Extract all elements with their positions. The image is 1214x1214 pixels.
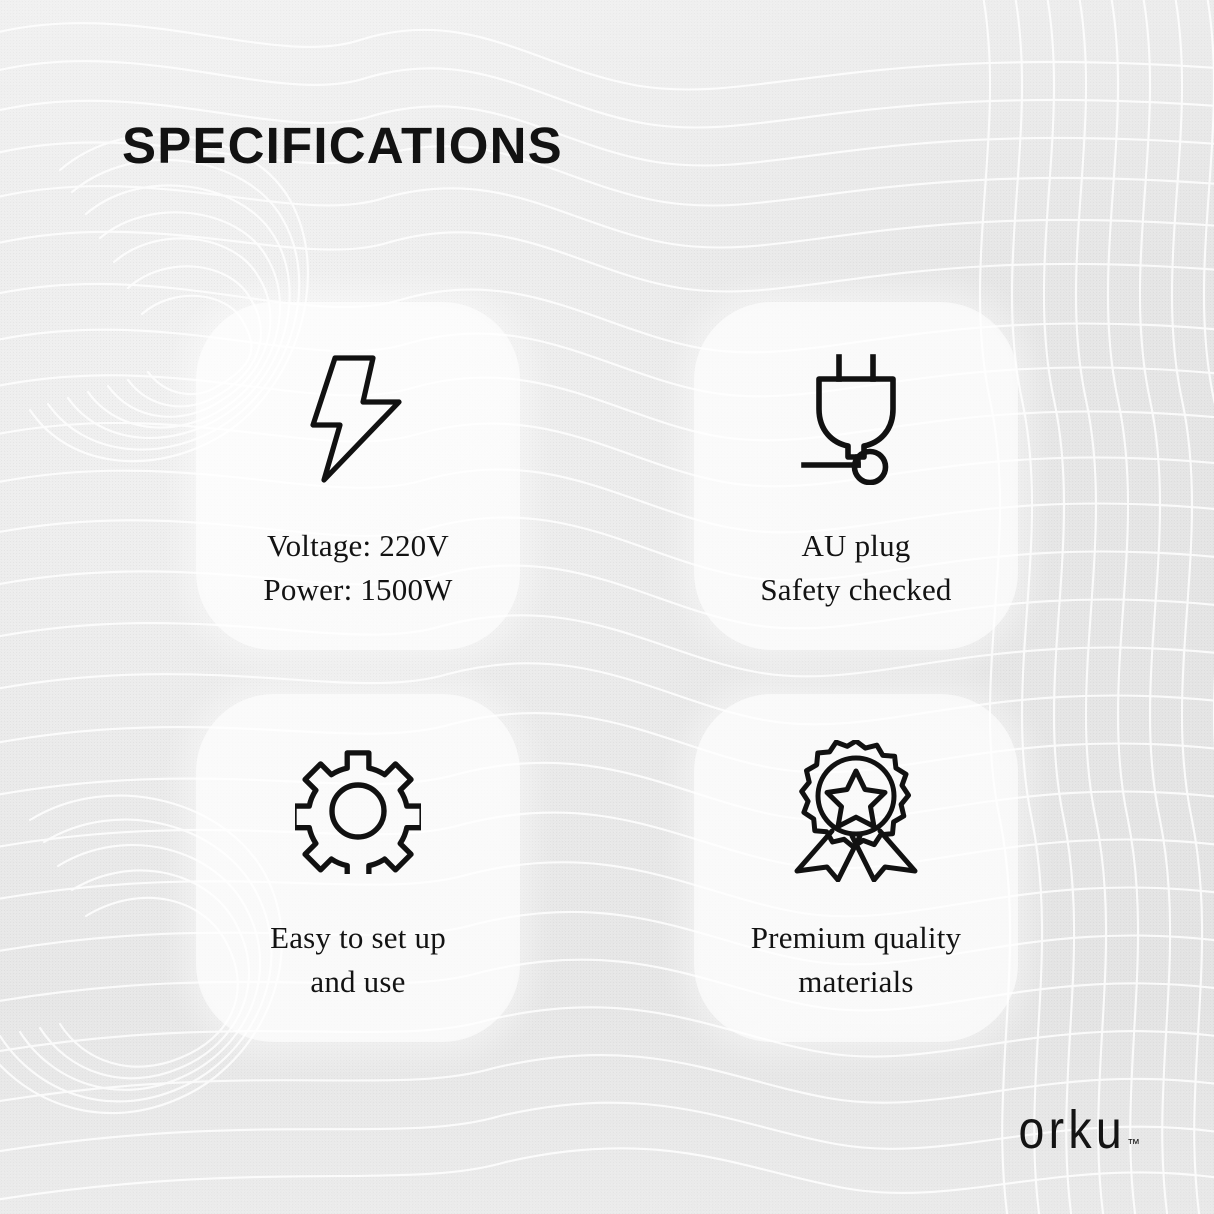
- spec-card-voltage: Voltage: 220V Power: 1500W: [196, 302, 520, 650]
- spec-line-2: Power: 1500W: [263, 568, 452, 612]
- spec-card-quality: Premium quality materials: [694, 694, 1018, 1042]
- spec-line-1: Premium quality: [751, 920, 962, 955]
- spec-line-2: and use: [270, 960, 446, 1004]
- specifications-slide: SPECIFICATIONS Voltage: 220V Power: 1500…: [0, 0, 1214, 1214]
- spec-line-2: Safety checked: [760, 568, 951, 612]
- spec-card-text: AU plug Safety checked: [760, 524, 951, 612]
- spec-card-grid: Voltage: 220V Power: 1500W: [196, 302, 1018, 1042]
- brand-logo: orku ™: [1001, 1106, 1140, 1156]
- award-badge-icon: [781, 736, 931, 886]
- spec-line-1: Easy to set up: [270, 920, 446, 955]
- spec-line-1: AU plug: [801, 528, 910, 563]
- spec-card-plug: AU plug Safety checked: [694, 302, 1018, 650]
- spec-card-text: Premium quality materials: [751, 916, 962, 1004]
- spec-card-text: Voltage: 220V Power: 1500W: [263, 524, 452, 612]
- brand-name: orku: [1018, 1106, 1126, 1156]
- gear-icon: [283, 736, 433, 886]
- page-title: SPECIFICATIONS: [122, 120, 563, 171]
- spec-card-setup: Easy to set up and use: [196, 694, 520, 1042]
- spec-line-2: materials: [751, 960, 962, 1004]
- lightning-bolt-icon: [283, 344, 433, 494]
- spec-line-1: Voltage: 220V: [267, 528, 449, 563]
- power-plug-icon: [781, 344, 931, 494]
- trademark-symbol: ™: [1127, 1136, 1140, 1151]
- spec-card-text: Easy to set up and use: [270, 916, 446, 1004]
